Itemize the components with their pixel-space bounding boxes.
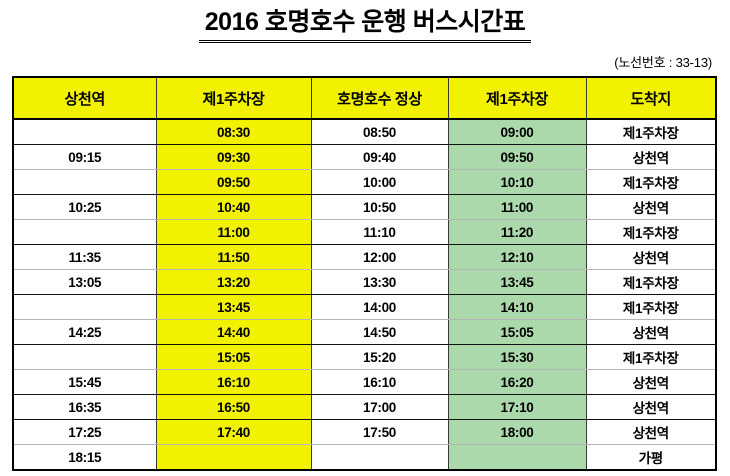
table-row: 13:05 13:20 13:30 13:45 제1주차장 bbox=[13, 270, 716, 295]
cell-parking-lot-1-return: 11:20 bbox=[448, 220, 586, 245]
cell-sangcheon-station bbox=[13, 119, 156, 145]
cell-sangcheon-station bbox=[13, 295, 156, 320]
cell-destination: 가평 bbox=[586, 445, 716, 471]
cell-homyeong-lake-summit: 08:50 bbox=[311, 119, 448, 145]
cell-homyeong-lake-summit: 10:50 bbox=[311, 195, 448, 220]
cell-parking-lot-1-return: 15:30 bbox=[448, 345, 586, 370]
cell-sangcheon-station: 15:45 bbox=[13, 370, 156, 395]
column-header-homyeong-lake-summit: 호명호수 정상 bbox=[311, 77, 448, 119]
cell-homyeong-lake-summit: 14:00 bbox=[311, 295, 448, 320]
cell-parking-lot-1-return: 11:00 bbox=[448, 195, 586, 220]
cell-sangcheon-station bbox=[13, 220, 156, 245]
table-row: 14:25 14:40 14:50 15:05 상천역 bbox=[13, 320, 716, 345]
cell-parking-lot-1-departure: 16:10 bbox=[156, 370, 311, 395]
cell-destination: 상천역 bbox=[586, 145, 716, 170]
cell-parking-lot-1-departure: 08:30 bbox=[156, 119, 311, 145]
cell-homyeong-lake-summit: 12:00 bbox=[311, 245, 448, 270]
cell-destination: 상천역 bbox=[586, 245, 716, 270]
cell-destination: 제1주차장 bbox=[586, 170, 716, 195]
table-row: 18:15 가평 bbox=[13, 445, 716, 471]
cell-parking-lot-1-return: 09:00 bbox=[448, 119, 586, 145]
cell-homyeong-lake-summit: 15:20 bbox=[311, 345, 448, 370]
table-header-row: 상천역 제1주차장 호명호수 정상 제1주차장 도착지 bbox=[13, 77, 716, 119]
cell-destination: 제1주차장 bbox=[586, 270, 716, 295]
cell-sangcheon-station: 18:15 bbox=[13, 445, 156, 471]
column-header-sangcheon-station: 상천역 bbox=[13, 77, 156, 119]
timetable-container: 상천역 제1주차장 호명호수 정상 제1주차장 도착지 08:30 08:50 … bbox=[12, 76, 715, 471]
cell-parking-lot-1-departure: 09:50 bbox=[156, 170, 311, 195]
table-row: 08:30 08:50 09:00 제1주차장 bbox=[13, 119, 716, 145]
cell-destination: 제1주차장 bbox=[586, 220, 716, 245]
cell-homyeong-lake-summit: 14:50 bbox=[311, 320, 448, 345]
cell-destination: 제1주차장 bbox=[586, 119, 716, 145]
table-row: 11:00 11:10 11:20 제1주차장 bbox=[13, 220, 716, 245]
cell-parking-lot-1-departure bbox=[156, 445, 311, 471]
cell-parking-lot-1-return: 12:10 bbox=[448, 245, 586, 270]
cell-parking-lot-1-departure: 11:00 bbox=[156, 220, 311, 245]
table-body: 08:30 08:50 09:00 제1주차장 09:15 09:30 09:4… bbox=[13, 119, 716, 470]
cell-homyeong-lake-summit: 16:10 bbox=[311, 370, 448, 395]
cell-parking-lot-1-return: 18:00 bbox=[448, 420, 586, 445]
column-header-destination: 도착지 bbox=[586, 77, 716, 119]
cell-parking-lot-1-departure: 10:40 bbox=[156, 195, 311, 220]
table-row: 09:15 09:30 09:40 09:50 상천역 bbox=[13, 145, 716, 170]
table-row: 15:05 15:20 15:30 제1주차장 bbox=[13, 345, 716, 370]
cell-parking-lot-1-return: 16:20 bbox=[448, 370, 586, 395]
cell-parking-lot-1-return bbox=[448, 445, 586, 471]
cell-parking-lot-1-departure: 15:05 bbox=[156, 345, 311, 370]
cell-destination: 제1주차장 bbox=[586, 295, 716, 320]
cell-destination: 상천역 bbox=[586, 320, 716, 345]
cell-destination: 상천역 bbox=[586, 195, 716, 220]
cell-sangcheon-station: 16:35 bbox=[13, 395, 156, 420]
cell-parking-lot-1-departure: 11:50 bbox=[156, 245, 311, 270]
cell-parking-lot-1-return: 10:10 bbox=[448, 170, 586, 195]
cell-homyeong-lake-summit: 17:00 bbox=[311, 395, 448, 420]
cell-destination: 상천역 bbox=[586, 370, 716, 395]
cell-parking-lot-1-departure: 13:45 bbox=[156, 295, 311, 320]
page-title: 2016 호명호수 운행 버스시간표 bbox=[199, 9, 531, 43]
column-header-parking-lot-1-return: 제1주차장 bbox=[448, 77, 586, 119]
cell-sangcheon-station: 10:25 bbox=[13, 195, 156, 220]
cell-destination: 제1주차장 bbox=[586, 345, 716, 370]
cell-parking-lot-1-return: 15:05 bbox=[448, 320, 586, 345]
table-row: 09:50 10:00 10:10 제1주차장 bbox=[13, 170, 716, 195]
cell-parking-lot-1-return: 13:45 bbox=[448, 270, 586, 295]
cell-homyeong-lake-summit: 09:40 bbox=[311, 145, 448, 170]
cell-sangcheon-station: 14:25 bbox=[13, 320, 156, 345]
cell-homyeong-lake-summit: 10:00 bbox=[311, 170, 448, 195]
cell-parking-lot-1-return: 09:50 bbox=[448, 145, 586, 170]
cell-sangcheon-station: 11:35 bbox=[13, 245, 156, 270]
cell-homyeong-lake-summit: 11:10 bbox=[311, 220, 448, 245]
table-row: 10:25 10:40 10:50 11:00 상천역 bbox=[13, 195, 716, 220]
table-row: 11:35 11:50 12:00 12:10 상천역 bbox=[13, 245, 716, 270]
cell-sangcheon-station bbox=[13, 345, 156, 370]
cell-homyeong-lake-summit: 17:50 bbox=[311, 420, 448, 445]
cell-sangcheon-station: 13:05 bbox=[13, 270, 156, 295]
cell-destination: 상천역 bbox=[586, 395, 716, 420]
cell-parking-lot-1-return: 14:10 bbox=[448, 295, 586, 320]
cell-parking-lot-1-departure: 16:50 bbox=[156, 395, 311, 420]
cell-homyeong-lake-summit: 13:30 bbox=[311, 270, 448, 295]
bus-timetable: 상천역 제1주차장 호명호수 정상 제1주차장 도착지 08:30 08:50 … bbox=[12, 76, 717, 471]
table-row: 16:35 16:50 17:00 17:10 상천역 bbox=[13, 395, 716, 420]
route-number-note: (노선번호 : 33-13) bbox=[0, 52, 730, 71]
table-row: 15:45 16:10 16:10 16:20 상천역 bbox=[13, 370, 716, 395]
cell-sangcheon-station: 09:15 bbox=[13, 145, 156, 170]
column-header-parking-lot-1-departure: 제1주차장 bbox=[156, 77, 311, 119]
cell-sangcheon-station bbox=[13, 170, 156, 195]
cell-parking-lot-1-return: 17:10 bbox=[448, 395, 586, 420]
title-block: 2016 호명호수 운행 버스시간표 bbox=[0, 0, 730, 43]
cell-destination: 상천역 bbox=[586, 420, 716, 445]
cell-parking-lot-1-departure: 17:40 bbox=[156, 420, 311, 445]
cell-sangcheon-station: 17:25 bbox=[13, 420, 156, 445]
cell-parking-lot-1-departure: 13:20 bbox=[156, 270, 311, 295]
cell-parking-lot-1-departure: 09:30 bbox=[156, 145, 311, 170]
table-row: 17:25 17:40 17:50 18:00 상천역 bbox=[13, 420, 716, 445]
cell-homyeong-lake-summit bbox=[311, 445, 448, 471]
cell-parking-lot-1-departure: 14:40 bbox=[156, 320, 311, 345]
table-row: 13:45 14:00 14:10 제1주차장 bbox=[13, 295, 716, 320]
